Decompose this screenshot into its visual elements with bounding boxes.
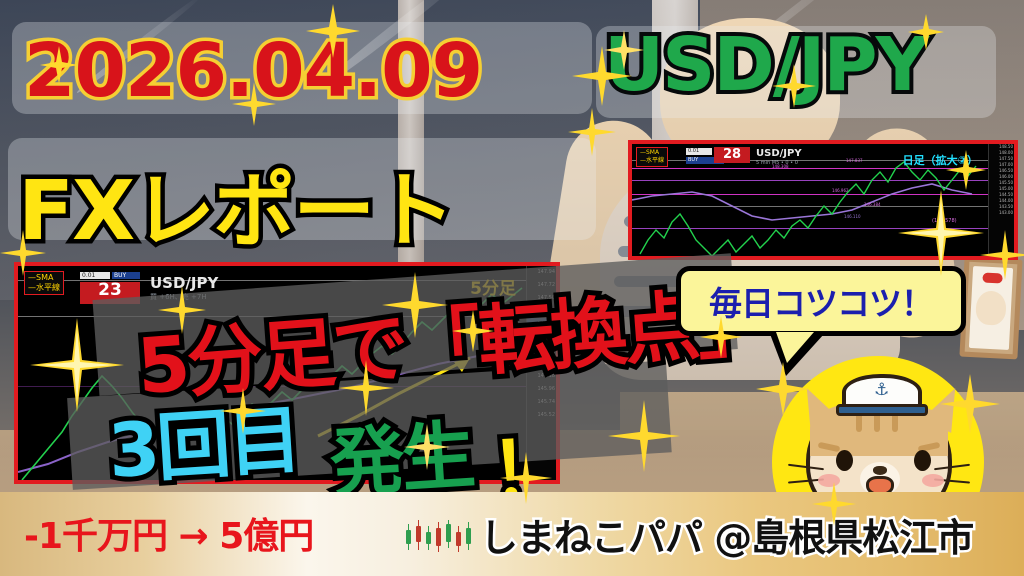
headline-line-2-count: 3回目 bbox=[105, 380, 302, 499]
chart-daily-order-panel[interactable]: 28 bbox=[714, 147, 750, 163]
picture-frame bbox=[959, 257, 1022, 360]
cat-eye-left bbox=[836, 450, 853, 471]
speech-bubble: 毎日コツコツ！ bbox=[676, 266, 966, 336]
cat-cheek-right bbox=[922, 474, 944, 487]
chart-five-min-order-price: 23 bbox=[98, 280, 122, 300]
speech-bubble-text: 毎日コツコツ！ bbox=[709, 277, 933, 325]
sailor-hat-band bbox=[836, 404, 928, 416]
anchor-icon: ⚓ bbox=[874, 380, 889, 400]
footer-handle-text: しまねこパパ @島根県松江市 bbox=[480, 507, 973, 562]
chart-daily-legend: —SMA —水平線 bbox=[636, 147, 668, 167]
thumbnail-canvas: 2026.04.09 USD/JPY FXレポート 148.308 147.83… bbox=[0, 0, 1024, 576]
chart-five-min-lot[interactable]: 0.01 bbox=[80, 272, 110, 279]
chart-daily-pair: USD/JPY bbox=[756, 148, 802, 159]
chart-daily-price-axis: 148.50148.00 147.50147.00 146.50146.00 1… bbox=[988, 144, 1014, 256]
page-title: FXレポート bbox=[18, 144, 453, 263]
chart-daily-subtitle: 5 min M5 • 0 • 0 bbox=[756, 160, 798, 166]
cat-nose bbox=[873, 466, 887, 475]
currency-pair-text: USD/JPY bbox=[604, 22, 927, 108]
mini-candlestick-icon bbox=[404, 520, 476, 554]
speech-bubble-tail-inner bbox=[776, 332, 814, 363]
chart-five-min-pair: USD/JPY bbox=[150, 274, 218, 292]
chart-daily-order-price: 28 bbox=[723, 147, 741, 162]
chart-five-min-legend: —SMA —水平線 bbox=[24, 271, 64, 295]
chart-daily-lot[interactable]: 0.01 bbox=[686, 148, 712, 155]
chart-daily-timeframe: 日足（拡大②） bbox=[903, 152, 978, 168]
chart-daily[interactable]: 148.308 147.837 146.962 146.384 146.110 … bbox=[628, 140, 1018, 260]
chart-five-min-side[interactable]: BUY bbox=[112, 272, 140, 279]
cat-cheek-left bbox=[818, 474, 840, 487]
footer-money-text: -1千万円 → 5億円 bbox=[24, 507, 313, 559]
date-text: 2026.04.09 bbox=[24, 28, 482, 114]
cat-eye-right bbox=[914, 450, 931, 471]
